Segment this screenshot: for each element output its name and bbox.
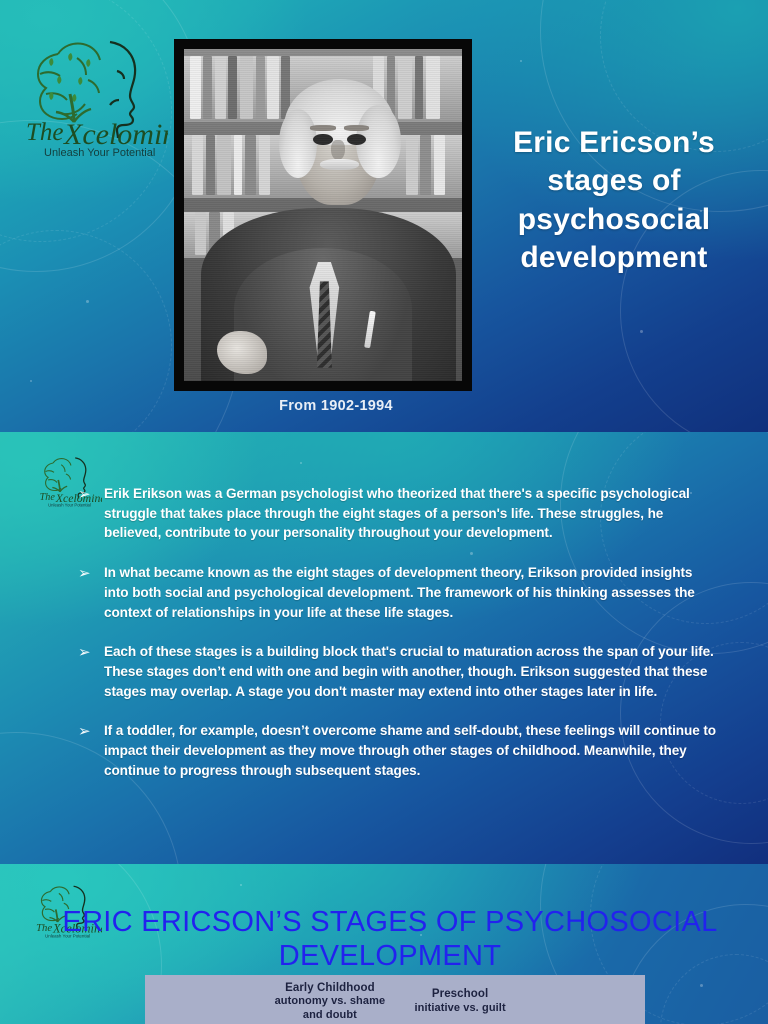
- bullet-list: ➢ Erik Erikson was a German psychologist…: [78, 484, 718, 780]
- svg-text:Unleash Your Potential: Unleash Your Potential: [44, 147, 155, 158]
- svg-text:The: The: [40, 492, 56, 503]
- presentation-page: The Xcelomind Unleash Your Potential: [0, 0, 768, 1024]
- list-item: ➢ In what became known as the eight stag…: [78, 563, 718, 622]
- stage-conflict: initiative vs. guilt: [395, 1002, 525, 1016]
- svg-text:The: The: [36, 922, 52, 934]
- brand-logo: The Xcelomind Unleash Your Potential: [18, 28, 168, 158]
- slide-stages-chart: The Xcelomind Unleash Your Potential ERI…: [0, 864, 768, 1024]
- list-item: ➢ If a toddler, for example, doesn’t ove…: [78, 721, 718, 780]
- bullet-text: Each of these stages is a building block…: [104, 642, 718, 701]
- bullet-text: Erik Erikson was a German psychologist w…: [104, 484, 718, 543]
- bullet-text: In what became known as the eight stages…: [104, 563, 718, 622]
- stage-column-preschool: Preschool initiative vs. guilt: [395, 987, 525, 1015]
- erik-erikson-portrait: [184, 49, 462, 381]
- list-item: ➢ Each of these stages is a building blo…: [78, 642, 718, 701]
- portrait-caption: From 1902-1994: [0, 398, 672, 414]
- page-title: Eric Ericson’s stages of psychosocial de…: [466, 124, 762, 278]
- stage-column-early-childhood: Early Childhood autonomy vs. shame and d…: [265, 981, 395, 1023]
- slide-overview: The Xcelomind Unleash Your Potential ➢ E…: [0, 432, 768, 864]
- list-item: ➢ Erik Erikson was a German psychologist…: [78, 484, 718, 543]
- slide-title: The Xcelomind Unleash Your Potential: [0, 0, 768, 432]
- bullet-text: If a toddler, for example, doesn’t overc…: [104, 721, 718, 780]
- svg-text:The: The: [26, 119, 64, 146]
- stage-conflict: autonomy vs. shame and doubt: [265, 995, 395, 1023]
- portrait-photo-frame: [174, 39, 472, 391]
- arrow-bullet-icon: ➢: [78, 645, 94, 661]
- stage-name: Preschool: [395, 987, 525, 1001]
- arrow-bullet-icon: ➢: [78, 724, 94, 740]
- arrow-bullet-icon: ➢: [78, 566, 94, 582]
- stages-columns: Early Childhood autonomy vs. shame and d…: [145, 975, 645, 1024]
- stage-name: Early Childhood: [265, 981, 395, 995]
- arrow-bullet-icon: ➢: [78, 487, 94, 503]
- section-title: ERIC ERICSON’S STAGES OF PSYCHOSOCIAL DE…: [60, 906, 720, 973]
- stages-chart-panel: Early Childhood autonomy vs. shame and d…: [145, 975, 645, 1024]
